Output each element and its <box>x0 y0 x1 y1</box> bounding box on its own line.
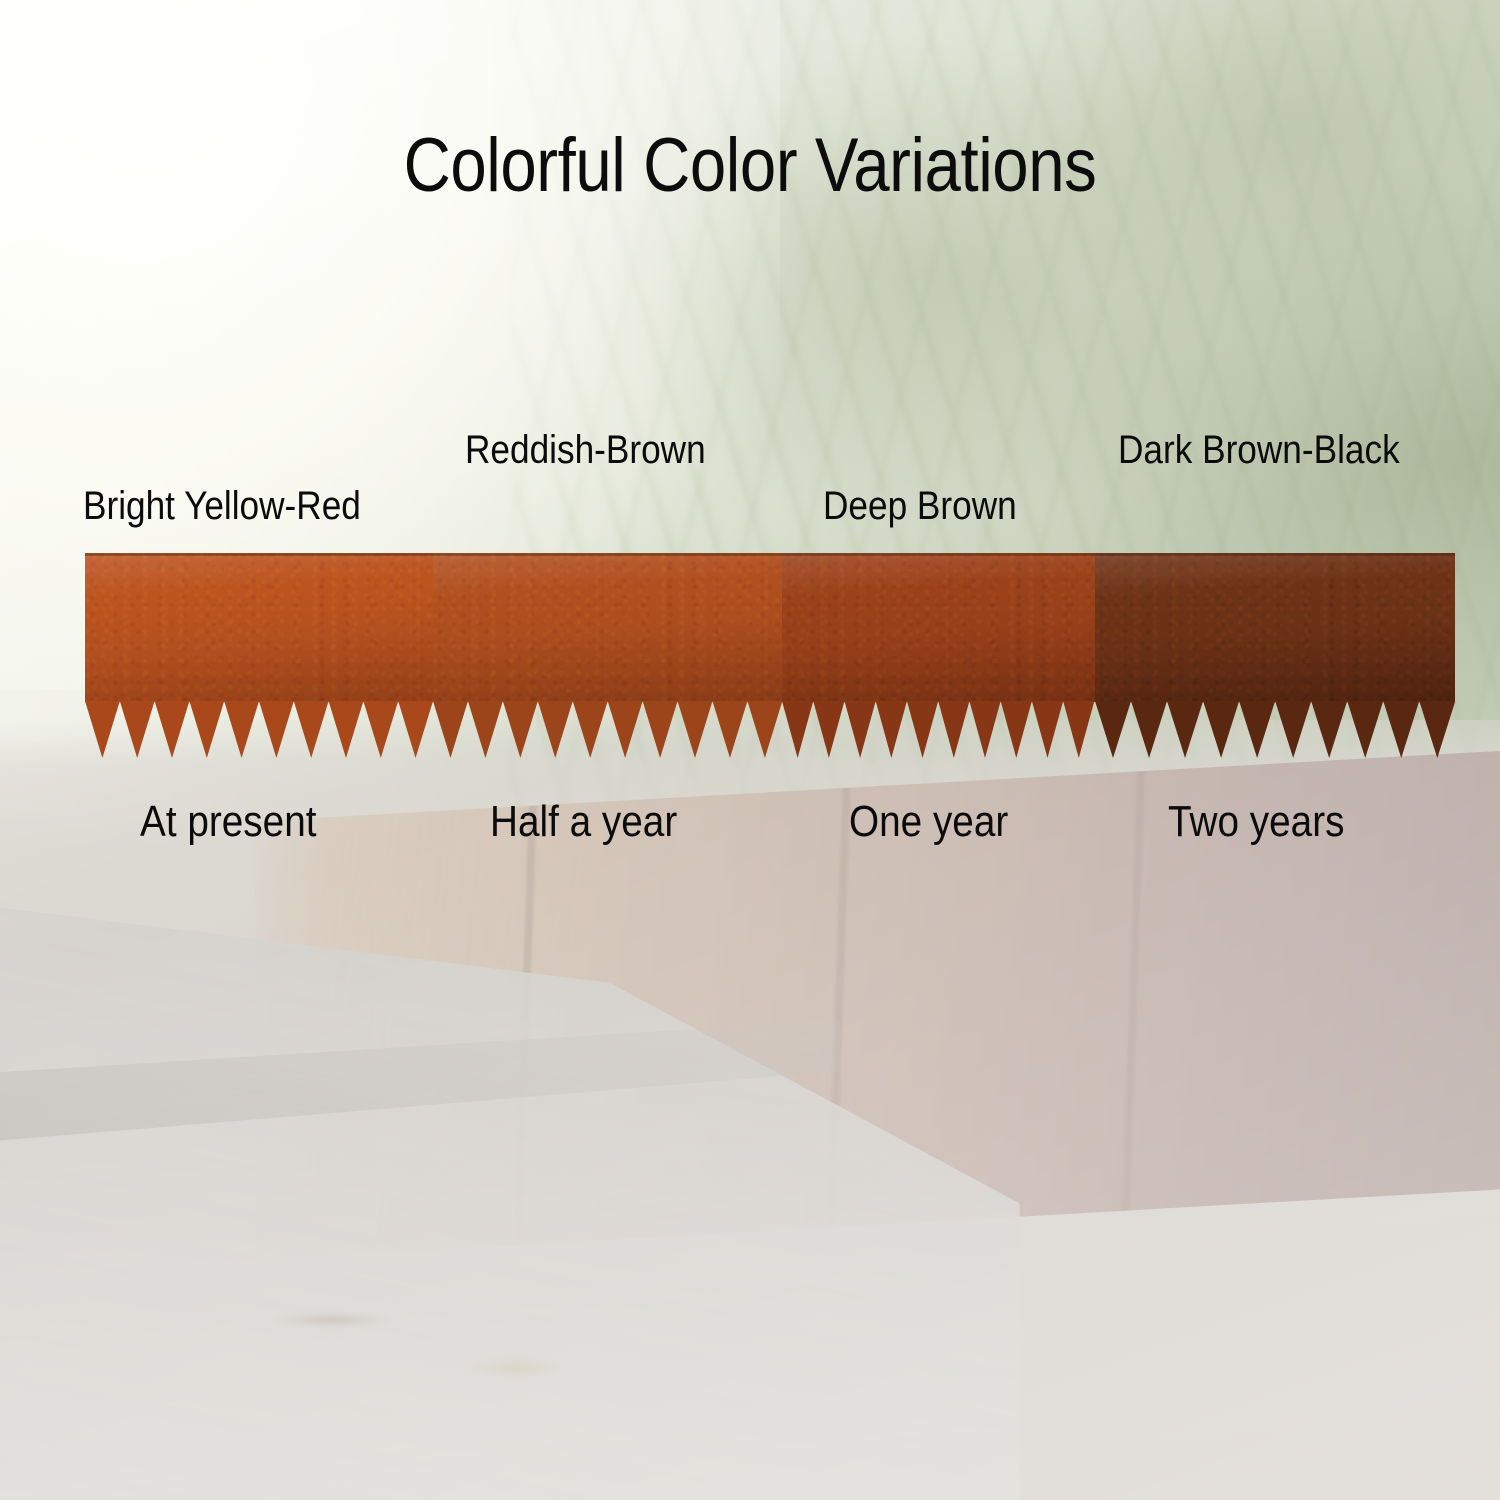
background-pavement <box>0 900 1020 1500</box>
swatch-top-edge <box>1095 553 1455 556</box>
swatch-face <box>782 553 1094 702</box>
swatch-time-label-1: At present <box>140 797 316 847</box>
swatch-sheen <box>1095 553 1455 702</box>
sawtooth-teeth-svg <box>85 701 433 758</box>
color-swatch-3[interactable] <box>782 553 1094 758</box>
swatch-top-edge <box>85 553 433 556</box>
page-title: Colorful Color Variations <box>105 126 1395 205</box>
sawtooth-edge <box>782 701 1094 758</box>
swatch-face <box>1095 553 1455 702</box>
color-swatch-1[interactable] <box>85 553 433 758</box>
swatch-color-label-4: Dark Brown-Black <box>1118 428 1400 473</box>
swatch-color-label-3: Deep Brown <box>823 484 1017 529</box>
sawtooth-edge <box>433 701 782 758</box>
color-swatch-strip <box>85 553 1455 758</box>
color-swatch-2[interactable] <box>433 553 782 758</box>
sawtooth-teeth-svg <box>782 701 1094 758</box>
swatch-face <box>433 553 782 702</box>
swatch-color-label-2: Reddish-Brown <box>465 428 706 473</box>
swatch-sheen <box>85 553 433 702</box>
swatch-time-label-3: One year <box>849 797 1008 847</box>
swatch-top-edge <box>782 553 1094 556</box>
background-debris <box>180 1260 720 1410</box>
swatch-time-label-4: Two years <box>1168 797 1344 847</box>
swatch-top-edge <box>433 553 782 556</box>
swatch-sheen <box>433 553 782 702</box>
sawtooth-edge <box>85 701 433 758</box>
sawtooth-teeth-svg <box>433 701 782 758</box>
background-kerb <box>0 1020 840 1170</box>
poster-canvas: Colorful Color Variations Bright Yellow-… <box>0 0 1500 1500</box>
sawtooth-edge <box>1095 701 1455 758</box>
sawtooth-teeth-svg <box>1095 701 1455 758</box>
swatch-time-label-2: Half a year <box>490 797 677 847</box>
swatch-color-label-1: Bright Yellow-Red <box>83 484 361 529</box>
swatch-face <box>85 553 433 702</box>
color-swatch-4[interactable] <box>1095 553 1455 758</box>
swatch-sheen <box>782 553 1094 702</box>
